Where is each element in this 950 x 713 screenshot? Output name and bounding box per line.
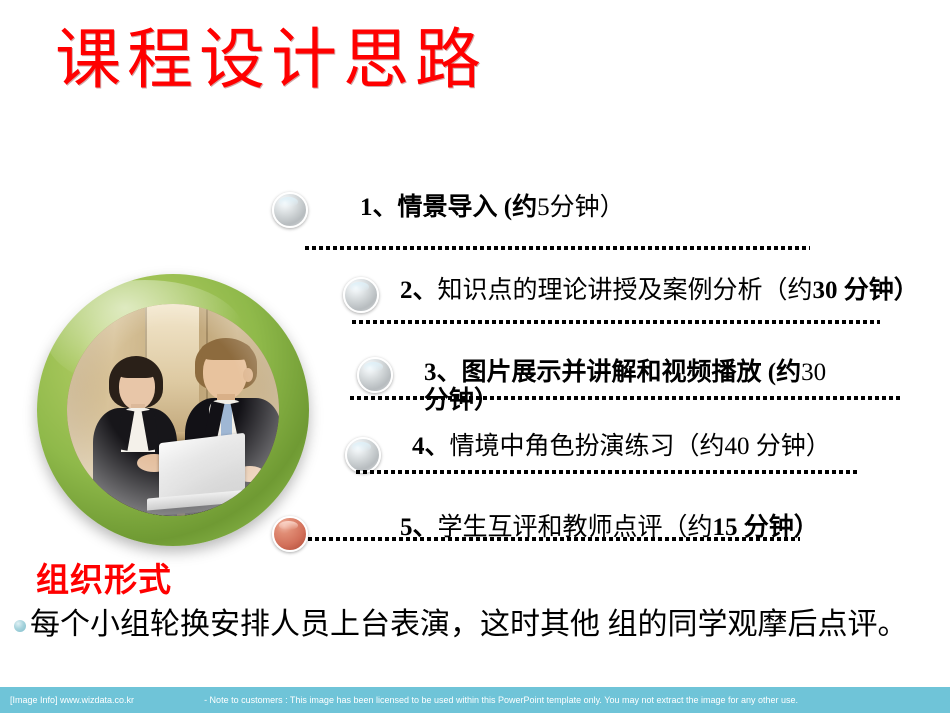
step-2-tail: 30 分钟） — [813, 277, 919, 304]
step-item-2: 2、知识点的理论讲授及案例分析（约30 分钟） — [400, 277, 919, 305]
step-bullet-4 — [345, 437, 381, 473]
step-3-index: 3、 — [424, 359, 462, 386]
page-title: 课程设计思路 — [55, 28, 487, 94]
step-3-value: 30 — [801, 359, 826, 386]
footer-license-note: - Note to customers : This image has bee… — [204, 695, 798, 705]
business-people-photo — [67, 304, 279, 516]
step-item-1: 1、情景导入 (约5分钟） — [360, 194, 625, 222]
bullet-dot-icon — [14, 620, 26, 632]
step-4-tail: 40 分钟） — [725, 433, 831, 460]
step-3-tail: 分钟） — [424, 387, 499, 414]
step-item-5: 5、学生互评和教师点评（约15 分钟） — [400, 514, 819, 542]
step-1-value: 5 — [537, 194, 550, 221]
organization-bullet-line: 每个小组轮换安排人员上台表演，这时其他 组的同学观摩后点评。 — [14, 606, 944, 644]
step-2-text: 知识点的理论讲授及案例分析（约 — [438, 277, 813, 304]
slide-canvas: 课程设计思路 — [0, 0, 950, 713]
step-bullet-5 — [272, 516, 308, 552]
step-5-tail: 15 分钟） — [713, 514, 819, 541]
step-bullet-3 — [357, 357, 393, 393]
step-2-index: 2、 — [400, 277, 438, 304]
footer-image-info: [Image Info] www.wizdata.co.kr — [10, 695, 134, 705]
step-3-bold: 图片展示并讲解和视频播放 (约 — [462, 359, 802, 386]
step-5-text: 学生互评和教师点评（约 — [438, 514, 713, 541]
step-connector-4 — [356, 470, 860, 474]
step-connector-2 — [352, 320, 880, 324]
organization-body: 每个小组轮换安排人员上台表演，这时其他 组的同学观摩后点评。 — [30, 606, 908, 644]
step-bullet-2 — [343, 277, 379, 313]
step-bullet-1 — [272, 192, 308, 228]
footer-bar: [Image Info] www.wizdata.co.kr - Note to… — [0, 687, 950, 713]
step-connector-1 — [305, 246, 810, 250]
organization-heading: 组织形式 — [36, 553, 172, 601]
step-4-index: 4、 — [412, 433, 450, 460]
step-item-3: 3、图片展示并讲解和视频播放 (约30分钟） — [424, 359, 894, 415]
step-4-text: 情境中角色扮演练习（约 — [450, 433, 725, 460]
photo-circle — [37, 274, 309, 546]
step-item-4: 4、情境中角色扮演练习（约40 分钟） — [412, 433, 831, 461]
step-1-tail: 分钟） — [550, 194, 625, 221]
photo-vignette — [67, 304, 279, 516]
step-5-index: 5、 — [400, 514, 438, 541]
step-1-index: 1、 — [360, 194, 398, 221]
step-1-bold: 情景导入 (约 — [398, 194, 538, 221]
